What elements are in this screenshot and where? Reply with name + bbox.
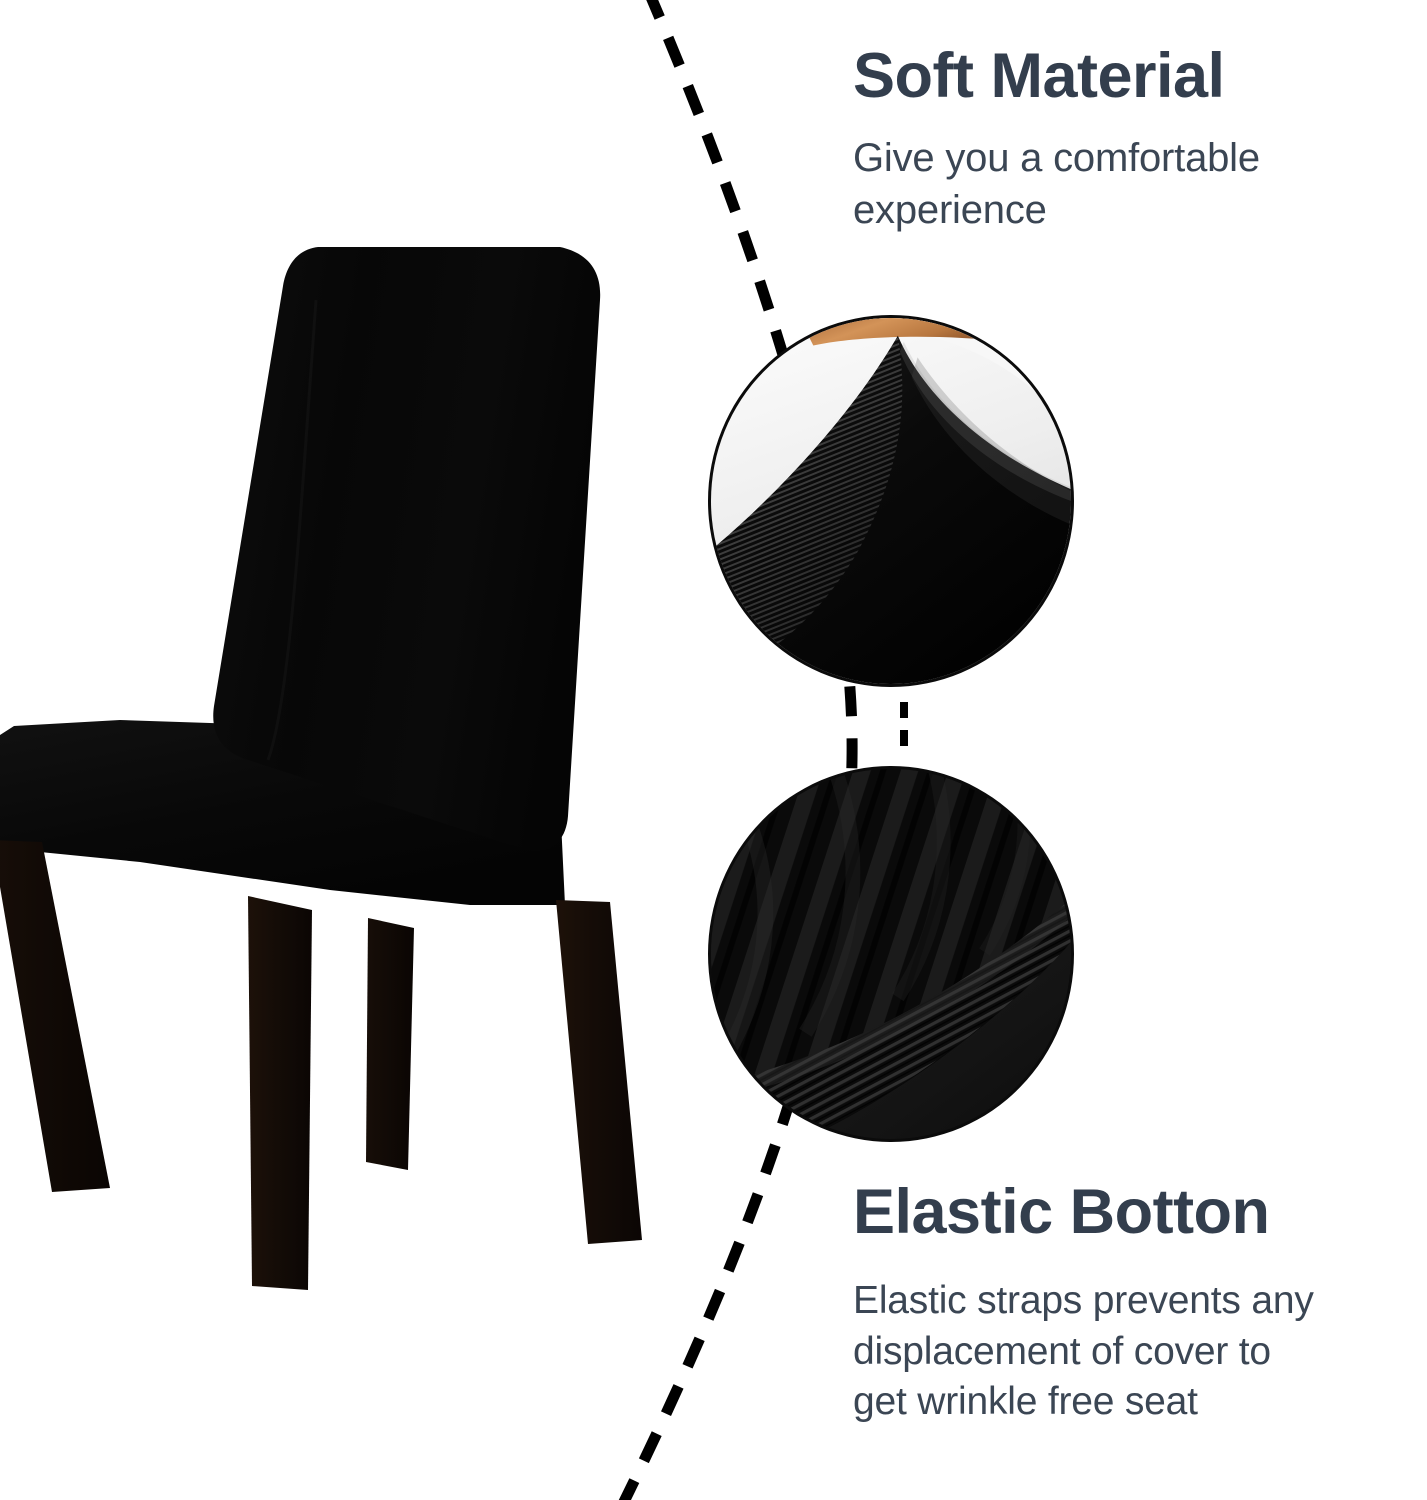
feature-block-elastic-botton: Elastic Botton Elastic straps prevents a… xyxy=(853,1178,1423,1428)
feature-body-line: displacement of cover to xyxy=(853,1327,1423,1378)
feature-body-line: get wrinkle free seat xyxy=(853,1377,1423,1428)
chair-leg-rear-left xyxy=(0,840,110,1192)
chair-leg-front-left xyxy=(248,896,312,1290)
feature-block-soft-material: Soft Material Give you a comfortable exp… xyxy=(853,42,1413,236)
fabric-texture-closeup-icon xyxy=(708,315,1074,687)
chair-leg-rear-middle xyxy=(366,918,414,1170)
feature-body-elastic-botton: Elastic straps prevents any displacement… xyxy=(853,1276,1423,1428)
product-feature-infographic: Soft Material Give you a comfortable exp… xyxy=(0,0,1427,1500)
chair-with-slipcover-image xyxy=(0,0,700,1340)
feature-heading-soft-material: Soft Material xyxy=(853,42,1413,110)
feature-body-line: experience xyxy=(853,184,1413,236)
chair-leg-front-right xyxy=(556,900,642,1244)
chair-backrest-cover xyxy=(213,247,600,851)
feature-body-line: Give you a comfortable xyxy=(853,132,1413,184)
dashed-vertical-connector xyxy=(898,700,910,756)
feature-body-soft-material: Give you a comfortable experience xyxy=(853,132,1413,236)
feature-body-line: Elastic straps prevents any xyxy=(853,1276,1423,1327)
feature-heading-elastic-botton: Elastic Botton xyxy=(853,1178,1423,1246)
elastic-hem-closeup-icon xyxy=(708,766,1074,1142)
